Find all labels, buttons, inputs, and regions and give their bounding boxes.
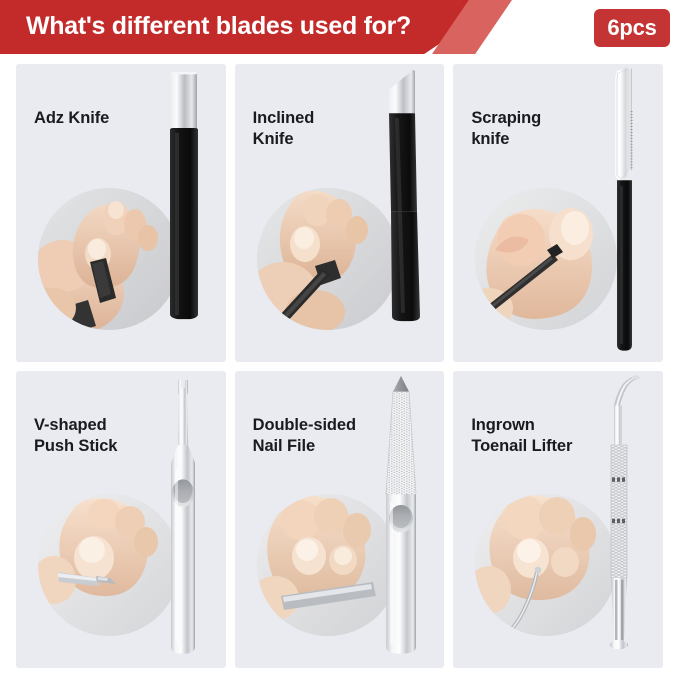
card-title: Double-sided Nail File [253, 415, 373, 457]
card-double-sided-nail-file[interactable]: Double-sided Nail File [235, 371, 445, 669]
card-title: Adz Knife [34, 108, 154, 129]
product-infographic: What's different blades used for? 6pcs A… [0, 0, 679, 679]
card-title: Inclined Knife [253, 108, 373, 150]
card-scraping-knife[interactable]: Scraping knife [453, 64, 663, 362]
v-shaped-push-stick-tool [140, 371, 226, 669]
card-title: Scraping knife [471, 108, 591, 150]
adz-knife-tool [140, 64, 226, 362]
card-adz-knife[interactable]: Adz Knife [16, 64, 226, 362]
product-card-grid: Adz Knife [16, 64, 663, 668]
inclined-knife-tool [358, 64, 444, 362]
card-title: V-shaped Push Stick [34, 415, 154, 457]
piece-count-badge: 6pcs [594, 9, 670, 47]
double-sided-nail-file-tool [358, 371, 444, 669]
card-inclined-knife[interactable]: Inclined Knife [235, 64, 445, 362]
card-v-shaped-push-stick[interactable]: V-shaped Push Stick [16, 371, 226, 669]
scraping-knife-tool [577, 64, 663, 362]
page-title: What's different blades used for? [26, 9, 411, 43]
card-ingrown-toenail-lifter[interactable]: Ingrown Toenail Lifter [453, 371, 663, 669]
header: What's different blades used for? 6pcs [0, 0, 679, 58]
ingrown-toenail-lifter-tool [577, 371, 663, 669]
